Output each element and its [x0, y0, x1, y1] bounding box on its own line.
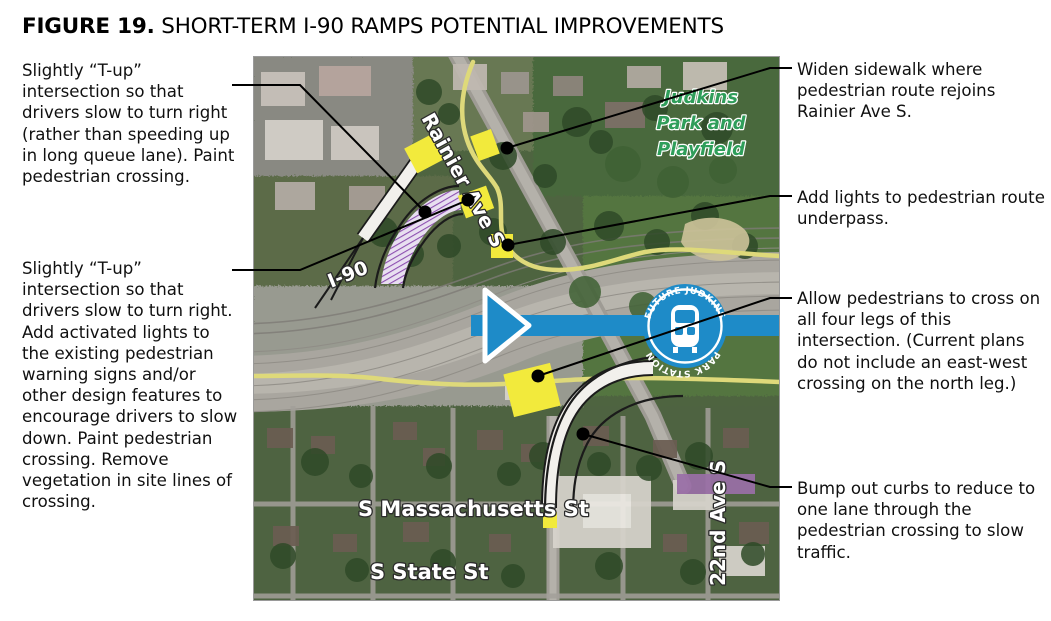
annotation-slightly-t-up-north: Slightly “T-up” intersection so that dri…	[22, 60, 238, 187]
aerial-map[interactable]: FUTURE JUDKINS PARK STATION Judkins Park…	[253, 56, 780, 601]
map-label-s-massachusetts-st: S Massachusetts St	[358, 497, 589, 521]
annotation-add-lights-underpass: Add lights to pedestrian route underpass…	[797, 187, 1045, 229]
annotation-slightly-t-up-south: Slightly “T-up” intersection so that dri…	[22, 258, 238, 512]
future-station-roundel: FUTURE JUDKINS PARK STATION	[643, 284, 727, 378]
map-label-22nd-ave-s: 22nd Ave S	[706, 460, 730, 586]
page-title: FIGURE 19. SHORT-TERM I-90 RAMPS POTENTI…	[22, 14, 724, 39]
map-label-park-line2: Park and	[656, 113, 746, 134]
annotation-widen-sidewalk: Widen sidewalk where pedestrian route re…	[797, 59, 1045, 123]
map-label-park-line3: Playfield	[657, 139, 746, 160]
map-label-s-state-st: S State St	[370, 560, 489, 584]
annotation-allow-crossing-four-legs: Allow pedestrians to cross on all four l…	[797, 288, 1045, 394]
annotation-bump-out-curbs: Bump out curbs to reduce to one lane thr…	[797, 478, 1045, 563]
figure-number: FIGURE 19.	[22, 14, 155, 39]
map-label-park-line1: Judkins	[661, 87, 738, 108]
figure-title-text: SHORT-TERM I-90 RAMPS POTENTIAL IMPROVEM…	[161, 14, 724, 39]
